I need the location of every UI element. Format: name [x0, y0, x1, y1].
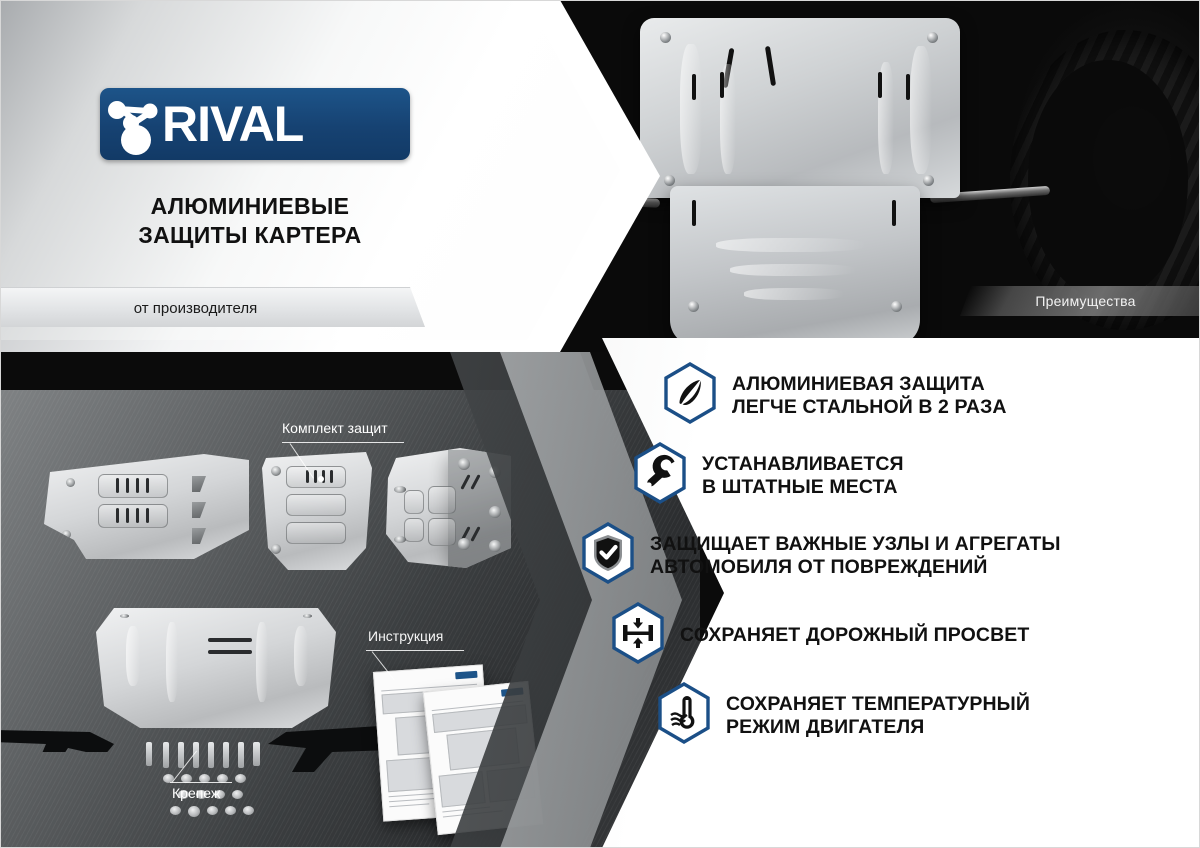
- feature-line1: УСТАНАВЛИВАЕТСЯ: [702, 453, 904, 475]
- feature-text: УСТАНАВЛИВАЕТСЯ В ШТАТНЫЕ МЕСТА: [702, 453, 904, 497]
- feature-line2: ЛЕГЧЕ СТАЛЬНОЙ В 2 РАЗА: [732, 396, 1007, 418]
- molecule-icon: [100, 88, 166, 160]
- shield-check-icon: [580, 522, 636, 589]
- feature-line1: АЛЮМИНИЕВАЯ ЗАЩИТА: [732, 373, 985, 395]
- feature-text: АЛЮМИНИЕВАЯ ЗАЩИТА ЛЕГЧЕ СТАЛЬНОЙ В 2 РА…: [732, 373, 1007, 417]
- callout-label-hardware: Крепеж: [172, 785, 220, 801]
- feature-item: ЗАЩИЩАЕТ ВАЖНЫЕ УЗЛЫ И АГРЕГАТЫ АВТОМОБИ…: [580, 522, 1190, 589]
- callout-label-set: Комплект защит: [282, 420, 388, 436]
- feature-line1: СОХРАНЯЕТ ТЕМПЕРАТУРНЫЙ: [726, 693, 1030, 715]
- page-title-line2: ЗАЩИТЫ КАРТЕРА: [0, 221, 500, 250]
- feature-line1: СОХРАНЯЕТ ДОРОЖНЫЙ ПРОСВЕТ: [680, 624, 1029, 646]
- callout-underline-hardware: [170, 782, 232, 783]
- rival-logo: RIVAL: [100, 88, 410, 160]
- ground-clearance-icon: [610, 602, 666, 669]
- poster-root: Преимущества RIVAL АЛЮМИНИЕВЫЕ: [0, 0, 1200, 848]
- maker-bar: от производителя: [0, 287, 425, 328]
- tire-shape: [1010, 30, 1200, 330]
- skid-plate-lower: [670, 186, 920, 346]
- skid-plate-bottom: [96, 608, 336, 728]
- callout-manual-text: Инструкция: [368, 628, 443, 644]
- skid-plate-middle: [262, 452, 372, 570]
- feature-text: СОХРАНЯЕТ ДОРОЖНЫЙ ПРОСВЕТ: [680, 624, 1029, 646]
- page-title-line1: АЛЮМИНИЕВЫЕ: [0, 192, 500, 221]
- feature-line1: ЗАЩИЩАЕТ ВАЖНЫЕ УЗЛЫ И АГРЕГАТЫ: [650, 533, 1061, 555]
- feature-item: СОХРАНЯЕТ ДОРОЖНЫЙ ПРОСВЕТ: [610, 602, 1190, 669]
- advantages-tab-label: Преимущества: [965, 286, 1200, 316]
- callout-underline-set: [282, 442, 404, 443]
- feature-line2: РЕЖИМ ДВИГАТЕЛЯ: [726, 716, 1030, 738]
- thermometer-icon: [656, 682, 712, 749]
- maker-bar-label: от производителя: [134, 300, 281, 317]
- advantages-tab: Преимущества: [960, 286, 1200, 316]
- feature-line2: АВТОМОБИЛЯ ОТ ПОВРЕЖДЕНИЙ: [650, 556, 1061, 578]
- feature-text: ЗАЩИЩАЕТ ВАЖНЫЕ УЗЛЫ И АГРЕГАТЫ АВТОМОБИ…: [650, 533, 1061, 577]
- callout-underline-manual: [366, 650, 464, 651]
- callout-set-text: Комплект защит: [282, 420, 388, 436]
- rival-logo-text: RIVAL: [162, 99, 303, 149]
- callout-hardware-text: Крепеж: [172, 785, 220, 801]
- feature-item: УСТАНАВЛИВАЕТСЯ В ШТАТНЫЕ МЕСТА: [632, 442, 1190, 509]
- leaf-icon: [662, 362, 718, 429]
- skid-plate-upper: [640, 18, 960, 198]
- callout-label-manual: Инструкция: [368, 628, 443, 644]
- page-title: АЛЮМИНИЕВЫЕ ЗАЩИТЫ КАРТЕРА: [0, 192, 500, 251]
- callout-dot-set: [318, 476, 324, 482]
- feature-line2: В ШТАТНЫЕ МЕСТА: [702, 476, 904, 498]
- features-list: АЛЮМИНИЕВАЯ ЗАЩИТА ЛЕГЧЕ СТАЛЬНОЙ В 2 РА…: [610, 362, 1190, 762]
- feature-item: СОХРАНЯЕТ ТЕМПЕРАТУРНЫЙ РЕЖИМ ДВИГАТЕЛЯ: [656, 682, 1190, 749]
- wrench-icon: [632, 442, 688, 509]
- feature-item: АЛЮМИНИЕВАЯ ЗАЩИТА ЛЕГЧЕ СТАЛЬНОЙ В 2 РА…: [662, 362, 1190, 429]
- feature-text: СОХРАНЯЕТ ТЕМПЕРАТУРНЫЙ РЕЖИМ ДВИГАТЕЛЯ: [726, 693, 1030, 737]
